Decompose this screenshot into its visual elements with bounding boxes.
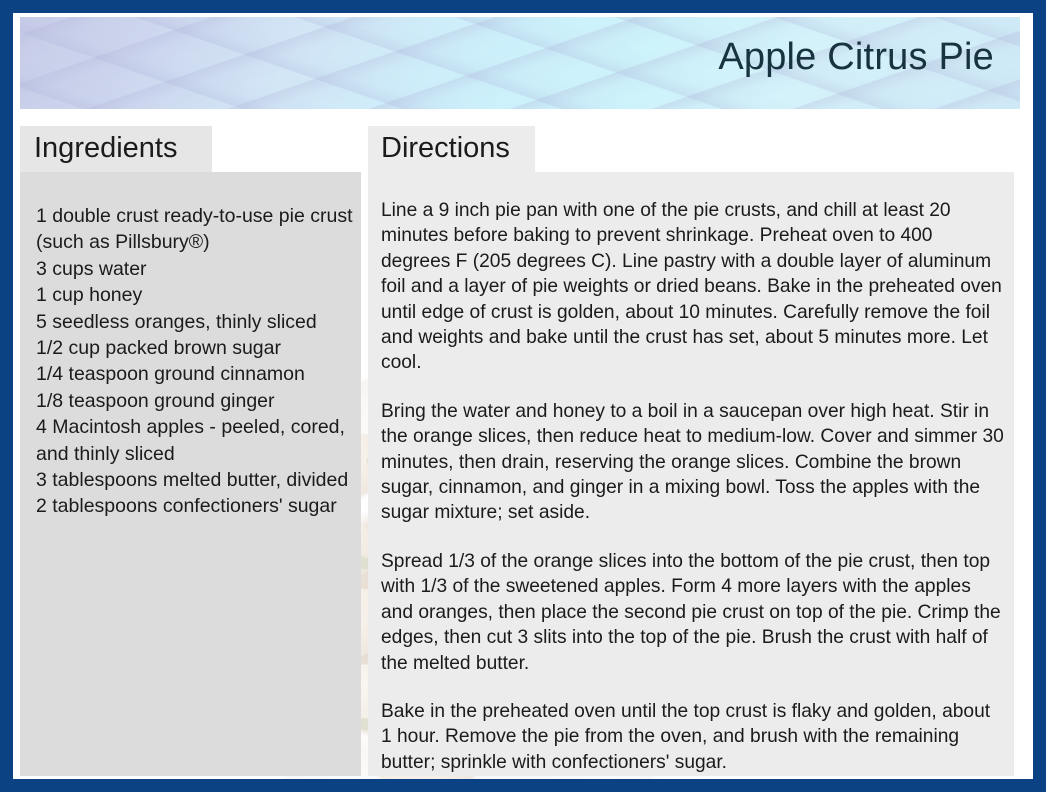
ingredient-item: 2 tablespoons confectioners' sugar	[36, 493, 354, 519]
ingredients-heading-box: Ingredients	[20, 126, 212, 172]
ingredient-item: 1 double crust ready-to-use pie crust (s…	[36, 203, 354, 256]
ingredient-item: 1/2 cup packed brown sugar	[36, 335, 354, 361]
page-title: Apple Citrus Pie	[718, 36, 994, 79]
ingredient-item: 4 Macintosh apples - peeled, cored, and …	[36, 414, 354, 467]
direction-paragraph: Bake in the preheated oven until the top…	[381, 699, 1005, 775]
ingredients-panel: 1 double crust ready-to-use pie crust (s…	[20, 172, 361, 776]
ingredient-item: 3 tablespoons melted butter, divided	[36, 467, 354, 493]
ingredient-item: 1/4 teaspoon ground cinnamon	[36, 361, 354, 387]
ingredient-item: 1/8 teaspoon ground ginger	[36, 388, 354, 414]
direction-paragraph: Bring the water and honey to a boil in a…	[381, 399, 1005, 526]
directions-text: Line a 9 inch pie pan with one of the pi…	[381, 198, 1005, 775]
ingredients-list: 1 double crust ready-to-use pie crust (s…	[36, 203, 354, 520]
directions-heading-box: Directions	[368, 126, 535, 172]
ingredient-item: 3 cups water	[36, 256, 354, 282]
ingredients-heading: Ingredients	[34, 132, 178, 165]
direction-paragraph: Spread 1/3 of the orange slices into the…	[381, 549, 1005, 676]
directions-heading: Directions	[381, 132, 510, 165]
recipe-card: Apple Citrus Pie	[0, 0, 1046, 792]
ingredient-item: 1 cup honey	[36, 282, 354, 308]
direction-paragraph: Line a 9 inch pie pan with one of the pi…	[381, 198, 1005, 376]
directions-panel: Line a 9 inch pie pan with one of the pi…	[368, 172, 1014, 776]
title-banner: Apple Citrus Pie	[20, 17, 1020, 109]
ingredient-item: 5 seedless oranges, thinly sliced	[36, 309, 354, 335]
recipe-card-inner: Apple Citrus Pie	[13, 13, 1033, 779]
